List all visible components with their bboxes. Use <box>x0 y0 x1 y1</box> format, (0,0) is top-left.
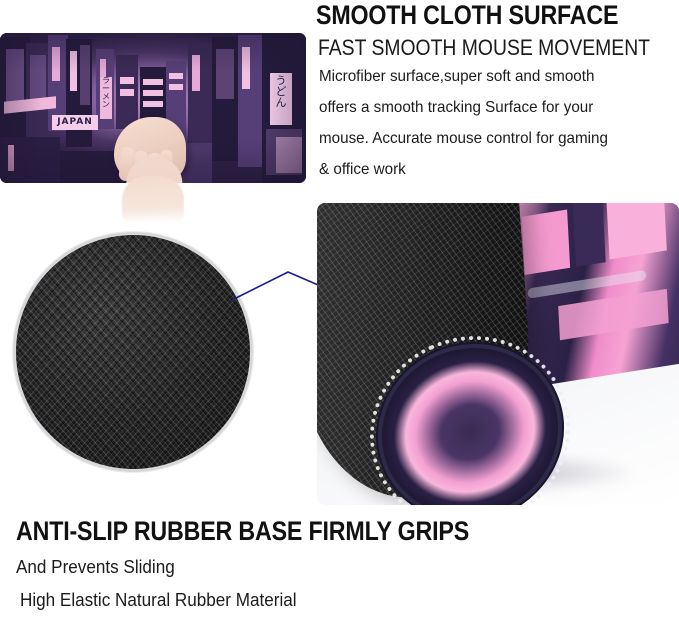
top-subhead: FAST SMOOTH MOUSE MOVEMENT <box>318 36 650 60</box>
top-headline: SMOOTH CLOTH SURFACE <box>316 1 618 29</box>
top-body-line-2: offers a smooth tracking Surface for you… <box>319 98 593 117</box>
mousepad-artwork: JAPAN う ど ん ラーメン <box>0 33 306 183</box>
bottom-body-line-1: And Prevents Sliding <box>16 557 175 578</box>
rolled-mousepad-photo <box>317 203 679 505</box>
building-shape <box>572 203 606 267</box>
top-body-line-4: & office work <box>319 160 406 179</box>
top-body-line-1: Microfiber surface,super soft and smooth <box>319 67 594 86</box>
bottom-headline: ANTI-SLIP RUBBER BASE FIRMLY GRIPS <box>16 517 469 545</box>
product-infographic: JAPAN う ど ん ラーメン <box>0 0 679 618</box>
hand-on-mouse <box>100 111 220 183</box>
building-shape <box>606 203 667 259</box>
building-shape <box>558 289 668 340</box>
building-shape <box>522 210 570 275</box>
bottom-body-line-2: High Elastic Natural Rubber Material <box>20 590 297 611</box>
mousepad-in-use-photo: JAPAN う ど ん ラーメン <box>0 33 306 183</box>
top-body-line-3: mouse. Accurate mouse control for gaming <box>319 129 608 148</box>
forearm-extending-below-pad <box>122 176 184 222</box>
rubber-base-weave-closeup <box>13 232 253 472</box>
